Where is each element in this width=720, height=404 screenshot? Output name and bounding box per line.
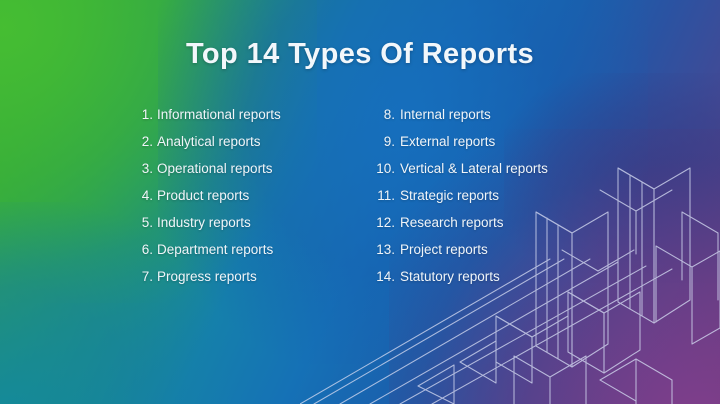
slide-canvas: Top 14 Types Of Reports 1. Informational… (0, 0, 720, 404)
list-item: 8. Internal reports (374, 101, 608, 128)
list-item-label: Industry reports (157, 209, 251, 236)
list-item-number: 7. (138, 263, 153, 290)
page-title: Top 14 Types Of Reports (0, 38, 720, 71)
list-item: 3. Operational reports (138, 155, 374, 182)
list-item: 12. Research reports (374, 209, 608, 236)
list-item-number: 12. (374, 209, 395, 236)
list-item: 1. Informational reports (138, 101, 374, 128)
list-item-label: Research reports (400, 209, 504, 236)
report-list-left: 1. Informational reports 2. Analytical r… (138, 101, 374, 290)
list-item-label: Internal reports (400, 101, 491, 128)
list-item: 14. Statutory reports (374, 263, 608, 290)
list-item-label: Informational reports (157, 101, 281, 128)
list-item-number: 1. (138, 101, 153, 128)
list-item: 4. Product reports (138, 182, 374, 209)
list-item-number: 2. (138, 128, 153, 155)
list-item: 10. Vertical & Lateral reports (374, 155, 608, 182)
list-item-number: 9. (374, 128, 395, 155)
list-item-number: 10. (374, 155, 395, 182)
list-item-label: Vertical & Lateral reports (400, 155, 548, 182)
list-item-number: 14. (374, 263, 395, 290)
list-item-label: Operational reports (157, 155, 273, 182)
list-item: 9. External reports (374, 128, 608, 155)
list-item-number: 4. (138, 182, 153, 209)
list-item-label: Progress reports (157, 263, 257, 290)
right-column: 8. Internal reports 9. External reports … (374, 101, 608, 290)
list-item-number: 11. (374, 182, 395, 209)
list-item-label: Department reports (157, 236, 273, 263)
list-item-label: Analytical reports (157, 128, 261, 155)
list-item-label: Strategic reports (400, 182, 499, 209)
report-list-right: 8. Internal reports 9. External reports … (374, 101, 608, 290)
report-type-columns: 1. Informational reports 2. Analytical r… (138, 101, 608, 290)
list-item-label: Product reports (157, 182, 249, 209)
list-item: 2. Analytical reports (138, 128, 374, 155)
list-item: 11. Strategic reports (374, 182, 608, 209)
list-item-label: Statutory reports (400, 263, 500, 290)
slide-content: Top 14 Types Of Reports 1. Informational… (0, 0, 720, 404)
list-item: 7. Progress reports (138, 263, 374, 290)
list-item-number: 3. (138, 155, 153, 182)
list-item-label: External reports (400, 128, 495, 155)
list-item-number: 8. (374, 101, 395, 128)
list-item: 13. Project reports (374, 236, 608, 263)
list-item-number: 13. (374, 236, 395, 263)
list-item-number: 5. (138, 209, 153, 236)
left-column: 1. Informational reports 2. Analytical r… (138, 101, 374, 290)
list-item-label: Project reports (400, 236, 488, 263)
list-item: 6. Department reports (138, 236, 374, 263)
list-item: 5. Industry reports (138, 209, 374, 236)
list-item-number: 6. (138, 236, 153, 263)
